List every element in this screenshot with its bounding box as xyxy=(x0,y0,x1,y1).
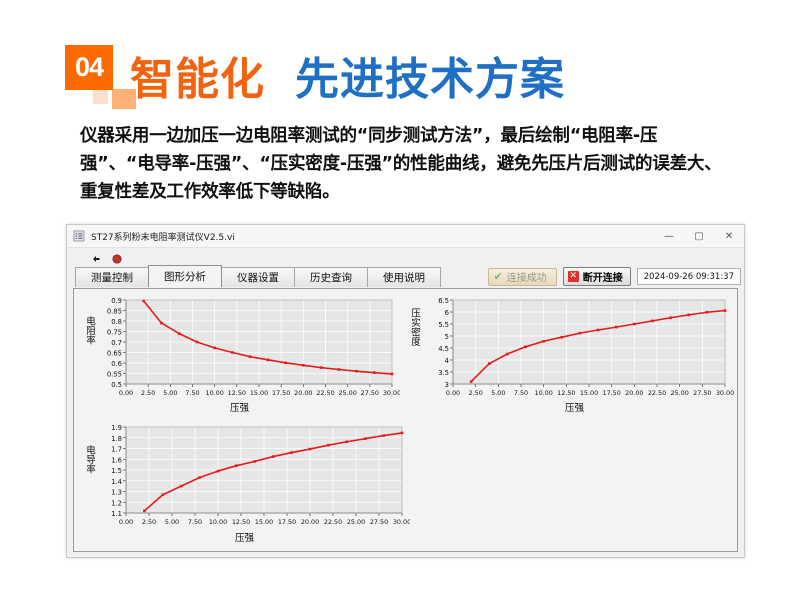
toolbar-actions: ✔ 连接成功 ✕ 断开连接 2024-09-26 09:31:37 xyxy=(488,267,742,286)
timestamp-field: 2024-09-26 09:31:37 xyxy=(637,268,741,285)
svg-text:0.8: 0.8 xyxy=(111,318,122,326)
svg-text:4: 4 xyxy=(445,357,449,365)
svg-text:0.00: 0.00 xyxy=(446,389,460,397)
svg-text:15.00: 15.00 xyxy=(580,389,598,397)
svg-text:22.50: 22.50 xyxy=(648,389,666,397)
close-x-icon: ✕ xyxy=(568,271,579,282)
svg-text:30.00: 30.00 xyxy=(393,518,410,526)
graph-analysis-panel: 电阻率 0.50.550.60.650.70.750.80.850.90.002… xyxy=(73,288,738,552)
tab-measurement-control[interactable]: 测量控制 xyxy=(75,267,149,287)
close-button[interactable]: ✕ xyxy=(714,225,744,247)
svg-text:7.50: 7.50 xyxy=(185,389,199,397)
svg-text:4.5: 4.5 xyxy=(438,345,449,353)
svg-text:25.00: 25.00 xyxy=(671,389,689,397)
svg-text:7.50: 7.50 xyxy=(514,389,528,397)
window-titlebar[interactable]: ST27系列粉末电阻率测试仪V2.5.vi — ▢ ✕ xyxy=(67,225,744,248)
svg-text:6: 6 xyxy=(445,309,449,317)
chart-compact-density: 压实密度 33.544.555.566.50.002.505.007.5010.… xyxy=(405,294,735,416)
svg-text:10.00: 10.00 xyxy=(206,389,224,397)
window-title-text: ST27系列粉末电阻率测试仪V2.5.vi xyxy=(91,230,235,243)
svg-text:12.50: 12.50 xyxy=(232,518,250,526)
svg-text:0.5: 0.5 xyxy=(111,381,122,389)
stop-button-icon[interactable] xyxy=(112,251,122,261)
svg-text:20.00: 20.00 xyxy=(294,389,312,397)
svg-text:1.5: 1.5 xyxy=(111,467,122,475)
disconnect-button[interactable]: ✕ 断开连接 xyxy=(563,267,631,286)
svg-text:27.50: 27.50 xyxy=(693,389,711,397)
labview-vi-icon xyxy=(73,230,85,242)
svg-text:17.50: 17.50 xyxy=(278,518,296,526)
svg-text:0.00: 0.00 xyxy=(119,389,133,397)
svg-text:0.7: 0.7 xyxy=(111,339,122,347)
svg-text:0.85: 0.85 xyxy=(107,308,122,316)
svg-text:0.75: 0.75 xyxy=(107,329,122,337)
svg-text:5: 5 xyxy=(445,333,449,341)
svg-text:30.00: 30.00 xyxy=(383,389,400,397)
svg-text:0.65: 0.65 xyxy=(107,350,122,358)
slide-header: 04 智能化 先进技术方案 xyxy=(0,0,800,118)
svg-text:27.50: 27.50 xyxy=(370,518,388,526)
svg-text:1.8: 1.8 xyxy=(111,435,122,443)
chart-compact-density-plot: 33.544.555.566.50.002.505.007.5010.0012.… xyxy=(405,294,735,399)
chart-conductivity-plot: 1.11.21.31.41.51.61.71.81.90.002.505.007… xyxy=(80,421,410,529)
labview-toolbar xyxy=(67,248,744,264)
svg-text:0.6: 0.6 xyxy=(111,360,122,368)
chart-conductivity-xlabel: 压强 xyxy=(235,530,254,544)
svg-text:0.9: 0.9 xyxy=(111,297,122,305)
svg-text:1.6: 1.6 xyxy=(111,456,122,464)
svg-text:1.9: 1.9 xyxy=(111,424,122,432)
tab-graph-analysis[interactable]: 图形分析 xyxy=(148,265,222,287)
badge-number-text: 04 xyxy=(65,45,113,90)
svg-text:17.50: 17.50 xyxy=(272,389,290,397)
svg-text:12.50: 12.50 xyxy=(557,389,575,397)
chart-compact-density-xlabel: 压强 xyxy=(565,400,584,414)
chart-conductivity: 电导率 1.11.21.31.41.51.61.71.81.90.002.505… xyxy=(80,421,410,547)
svg-text:1.7: 1.7 xyxy=(111,446,122,454)
svg-text:27.50: 27.50 xyxy=(361,389,379,397)
tab-instrument-settings[interactable]: 仪器设置 xyxy=(221,267,295,287)
svg-text:1.3: 1.3 xyxy=(111,489,122,497)
svg-text:5.5: 5.5 xyxy=(438,321,449,329)
tab-history-query[interactable]: 历史查询 xyxy=(294,267,368,287)
svg-text:12.50: 12.50 xyxy=(228,389,246,397)
run-arrow-icon[interactable] xyxy=(91,251,101,261)
svg-text:5.00: 5.00 xyxy=(491,389,505,397)
svg-text:10.00: 10.00 xyxy=(535,389,553,397)
tab-usage-instructions[interactable]: 使用说明 xyxy=(367,267,441,287)
connection-status-button: ✔ 连接成功 xyxy=(488,268,557,286)
page-title: 智能化 先进技术方案 xyxy=(130,44,565,106)
svg-text:15.00: 15.00 xyxy=(250,389,268,397)
body-paragraph: 仪器采用一边加压一边电阻率测试的“同步测试方法”，最后绘制“电阻率-压强”、“电… xyxy=(80,122,730,206)
svg-text:1.4: 1.4 xyxy=(111,478,122,486)
svg-text:17.50: 17.50 xyxy=(603,389,621,397)
svg-text:3: 3 xyxy=(445,381,449,389)
svg-text:25.00: 25.00 xyxy=(347,518,365,526)
svg-text:0.55: 0.55 xyxy=(107,371,122,379)
chart-resistivity: 电阻率 0.50.550.60.650.70.750.80.850.90.002… xyxy=(80,294,400,416)
svg-text:3.5: 3.5 xyxy=(438,369,449,377)
check-icon: ✔ xyxy=(494,271,503,282)
maximize-button[interactable]: ▢ xyxy=(684,225,714,247)
svg-text:20.00: 20.00 xyxy=(625,389,643,397)
minimize-button[interactable]: — xyxy=(654,225,684,247)
chart-resistivity-plot: 0.50.550.60.650.70.750.80.850.90.002.505… xyxy=(80,294,400,399)
application-window: ST27系列粉末电阻率测试仪V2.5.vi — ▢ ✕ 测量控制 图形分析 仪器… xyxy=(66,224,745,558)
svg-text:7.50: 7.50 xyxy=(188,518,202,526)
page-title-blue: 先进技术方案 xyxy=(295,43,565,107)
disconnect-label: 断开连接 xyxy=(583,269,623,284)
svg-text:5.00: 5.00 xyxy=(163,389,177,397)
svg-text:22.50: 22.50 xyxy=(324,518,342,526)
svg-text:30.00: 30.00 xyxy=(716,389,734,397)
svg-text:20.00: 20.00 xyxy=(301,518,319,526)
tab-bar: 测量控制 图形分析 仪器设置 历史查询 使用说明 ✔ 连接成功 ✕ 断开连接 2… xyxy=(67,264,744,287)
svg-text:2.50: 2.50 xyxy=(469,389,483,397)
svg-text:1.1: 1.1 xyxy=(111,510,122,518)
page-title-orange: 智能化 xyxy=(130,43,265,107)
svg-text:1.2: 1.2 xyxy=(111,499,122,507)
svg-text:10.00: 10.00 xyxy=(209,518,227,526)
svg-text:5.00: 5.00 xyxy=(165,518,179,526)
svg-text:2.50: 2.50 xyxy=(142,518,156,526)
window-controls: — ▢ ✕ xyxy=(654,225,744,247)
svg-text:2.50: 2.50 xyxy=(141,389,155,397)
chart-resistivity-xlabel: 压强 xyxy=(230,400,249,414)
svg-text:0.00: 0.00 xyxy=(119,518,133,526)
svg-text:15.00: 15.00 xyxy=(255,518,273,526)
badge-square-small xyxy=(93,89,108,104)
svg-text:25.00: 25.00 xyxy=(339,389,357,397)
svg-text:22.50: 22.50 xyxy=(316,389,334,397)
svg-text:6.5: 6.5 xyxy=(438,297,449,305)
connection-status-label: 连接成功 xyxy=(507,269,547,284)
